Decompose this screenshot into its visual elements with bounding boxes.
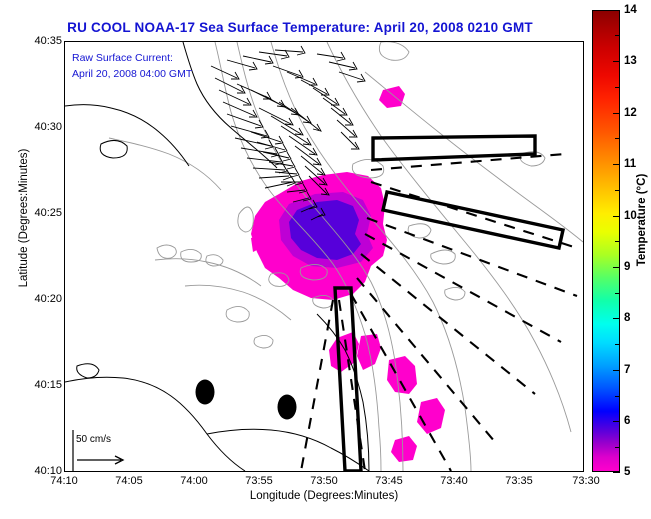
colorbar-tick (613, 472, 620, 473)
colorbar-label-10: 10 (624, 210, 637, 222)
x-tick-label-6: 73:40 (440, 475, 468, 487)
colorbar-tick (613, 164, 620, 165)
x-tick-label-5: 73:45 (375, 475, 403, 487)
cold-patch-south-d (417, 398, 445, 434)
colorbar-title: Temperature (°C) (636, 130, 648, 310)
colorbar-label-14: 14 (624, 4, 637, 16)
y-tick-label-2: 40:25 (34, 207, 62, 219)
colorbar-label-7: 7 (624, 364, 630, 376)
x-tick-label-7: 73:35 (505, 475, 533, 487)
colorbar-minor-tick (615, 35, 620, 36)
y-tick-label-1: 40:30 (34, 121, 62, 133)
y-tick-label-4: 40:15 (34, 379, 62, 391)
x-tick-label-3: 73:55 (245, 475, 273, 487)
x-tick-label-2: 74:00 (180, 475, 208, 487)
cold-patch-south-b (357, 334, 381, 370)
colorbar-tick (613, 10, 620, 11)
figure-title: RU COOL NOAA-17 Sea Surface Temperature:… (0, 20, 600, 35)
colorbar-tick (613, 267, 620, 268)
map-plot-area[interactable] (64, 41, 584, 472)
colorbar-label-6: 6 (624, 415, 630, 427)
x-tick-label-8: 73:30 (572, 475, 600, 487)
x-tick-label-1: 74:05 (115, 475, 143, 487)
colorbar-label-12: 12 (624, 107, 637, 119)
colorbar-label-9: 9 (624, 261, 630, 273)
y-axis-title: Latitude (Degrees:Minutes) (18, 108, 30, 328)
colorbar-tick (613, 421, 620, 422)
station-markers (196, 380, 297, 420)
colorbar-tick (613, 318, 620, 319)
colorbar-tick (613, 216, 620, 217)
colorbar-minor-tick (615, 344, 620, 345)
colorbar-minor-tick (615, 447, 620, 448)
cold-patch-south-e (391, 436, 417, 462)
cold-patch-north (379, 86, 405, 108)
colorbar-label-13: 13 (624, 55, 637, 67)
colorbar-label-8: 8 (624, 312, 630, 324)
y-tick-label-0: 40:35 (34, 35, 62, 47)
cold-patch-south-c (387, 356, 417, 394)
station-marker-east (278, 395, 297, 420)
x-tick-label-0: 74:10 (50, 475, 78, 487)
colorbar-tick (613, 113, 620, 114)
colorbar-minor-tick (615, 87, 620, 88)
station-marker-west (196, 380, 215, 405)
colorbar-minor-tick (615, 138, 620, 139)
colorbar-minor-tick (615, 396, 620, 397)
x-axis-title: Longitude (Degrees:Minutes) (64, 490, 584, 502)
sst-map-figure: RU COOL NOAA-17 Sea Surface Temperature:… (0, 0, 651, 519)
colorbar-label-5: 5 (624, 466, 630, 478)
colorbar-tick (613, 61, 620, 62)
current-annotation-line2: April 20, 2008 04:00 GMT (72, 68, 192, 81)
colorbar-label-11: 11 (624, 158, 636, 170)
y-tick-label-3: 40:20 (34, 293, 62, 305)
velocity-scale-label: 50 cm/s (76, 434, 111, 445)
colorbar-minor-tick (615, 241, 620, 242)
colorbar-minor-tick (615, 190, 620, 191)
colorbar-minor-tick (615, 293, 620, 294)
x-tick-label-4: 73:50 (310, 475, 338, 487)
colorbar-tick (613, 370, 620, 371)
current-annotation-line1: Raw Surface Current: (72, 52, 173, 65)
